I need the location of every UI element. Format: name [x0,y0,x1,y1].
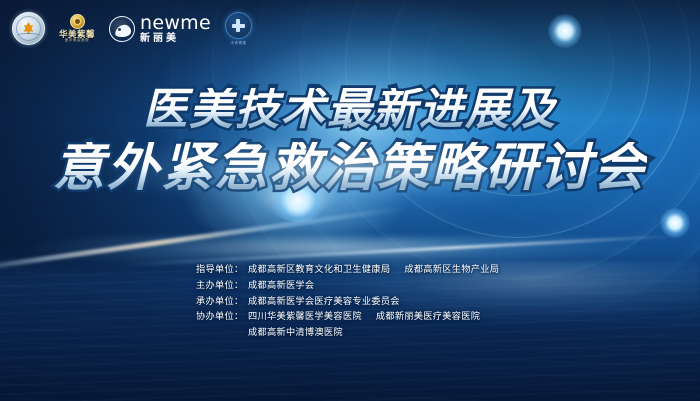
seal-icon [12,12,45,45]
logo-medical-cross: 中清博澳 [225,12,252,45]
info-value-host: 成都高新医学会 [248,278,314,294]
info-row-guidance: 指导单位： 成都高新区教育文化和卫生健康局成都高新区生物产业局 [196,262,499,278]
title-line-1: 医美技术最新进展及 [143,88,557,132]
poster-canvas: 华美紫馨 医学美容医院 newme 新丽美 中清博澳 医美技术最新进展及 意外紧… [0,0,700,401]
sponsor-logo-bar: 华美紫馨 医学美容医院 newme 新丽美 中清博澳 [12,12,252,45]
info-row-host: 主办单位： 成都高新医学会 [196,278,499,294]
logo-huamei-zixin: 华美紫馨 医学美容医院 [59,14,95,43]
newme-chinese-name: 新丽美 [140,34,211,44]
info-row-coorganizer: 协办单位： 四川华美紫馨医学美容医院成都新丽美医疗美容医院 [196,309,499,325]
info-label-guidance: 指导单位： [196,262,248,278]
organizer-info-block: 指导单位： 成都高新区教育文化和卫生健康局成都高新区生物产业局 主办单位： 成都… [196,262,499,341]
info-label-organizer: 承办单位： [196,294,248,310]
medical-cross-subtext: 中清博澳 [231,40,247,45]
newme-mark-icon [109,16,135,42]
info-row-coorganizer-continued: 成都高新中清博澳医院 [196,325,499,341]
info-row-organizer: 承办单位： 成都高新医学会医疗美容专业委员会 [196,294,499,310]
info-value-guidance: 成都高新区教育文化和卫生健康局成都高新区生物产业局 [248,262,499,278]
title-line-2: 意外紧急救治策略研讨会 [53,142,647,194]
huamei-subtext: 医学美容医院 [65,39,90,43]
newme-wordmark: newme [140,14,211,33]
logo-newme: newme 新丽美 [109,14,211,44]
info-value-organizer: 成都高新医学会医疗美容专业委员会 [248,294,400,310]
info-value-coorganizer: 四川华美紫馨医学美容医院成都新丽美医疗美容医院 [248,309,480,325]
medical-cross-icon [225,12,252,39]
seal-arc-icon [17,33,40,38]
gold-emblem-icon [70,14,85,29]
info-label-host: 主办单位： [196,278,248,294]
logo-emblem-seal [12,12,45,45]
info-label-coorganizer: 协办单位： [196,309,248,325]
poster-title: 医美技术最新进展及 意外紧急救治策略研讨会 [0,88,700,194]
